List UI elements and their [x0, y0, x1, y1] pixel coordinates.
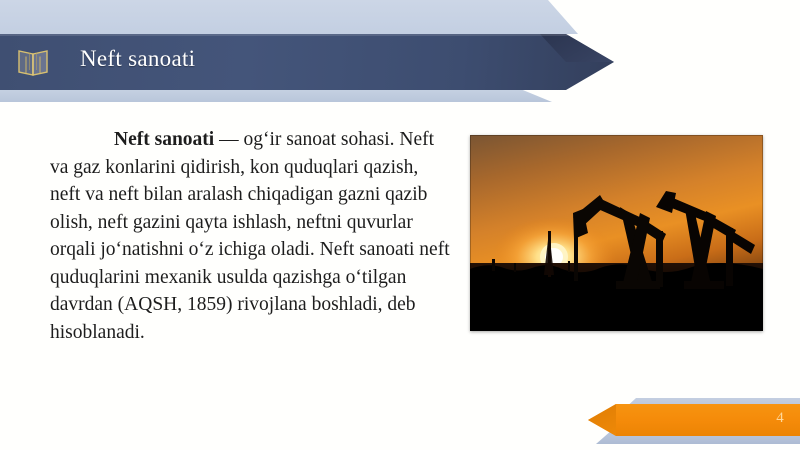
oil-pumpjacks-sunset-photo	[470, 135, 763, 331]
page-number: 4	[770, 410, 790, 427]
header-bar-highlight	[0, 34, 600, 36]
header-under-band	[0, 88, 560, 102]
body-rest-text: — og‘ir sanoat sohasi. Neft va gaz konla…	[50, 129, 450, 343]
body-paragraph: Neft sanoati — og‘ir sanoat sohasi. Neft…	[50, 126, 450, 346]
slide-canvas: Neft sanoati Neft sanoati — og‘ir sanoat…	[0, 0, 800, 450]
footer-accent-chevron	[588, 404, 800, 436]
body-lead-term: Neft sanoati	[114, 129, 214, 150]
open-book-icon	[15, 49, 51, 77]
header-light-band	[0, 0, 600, 34]
page-title: Neft sanoati	[80, 46, 195, 72]
